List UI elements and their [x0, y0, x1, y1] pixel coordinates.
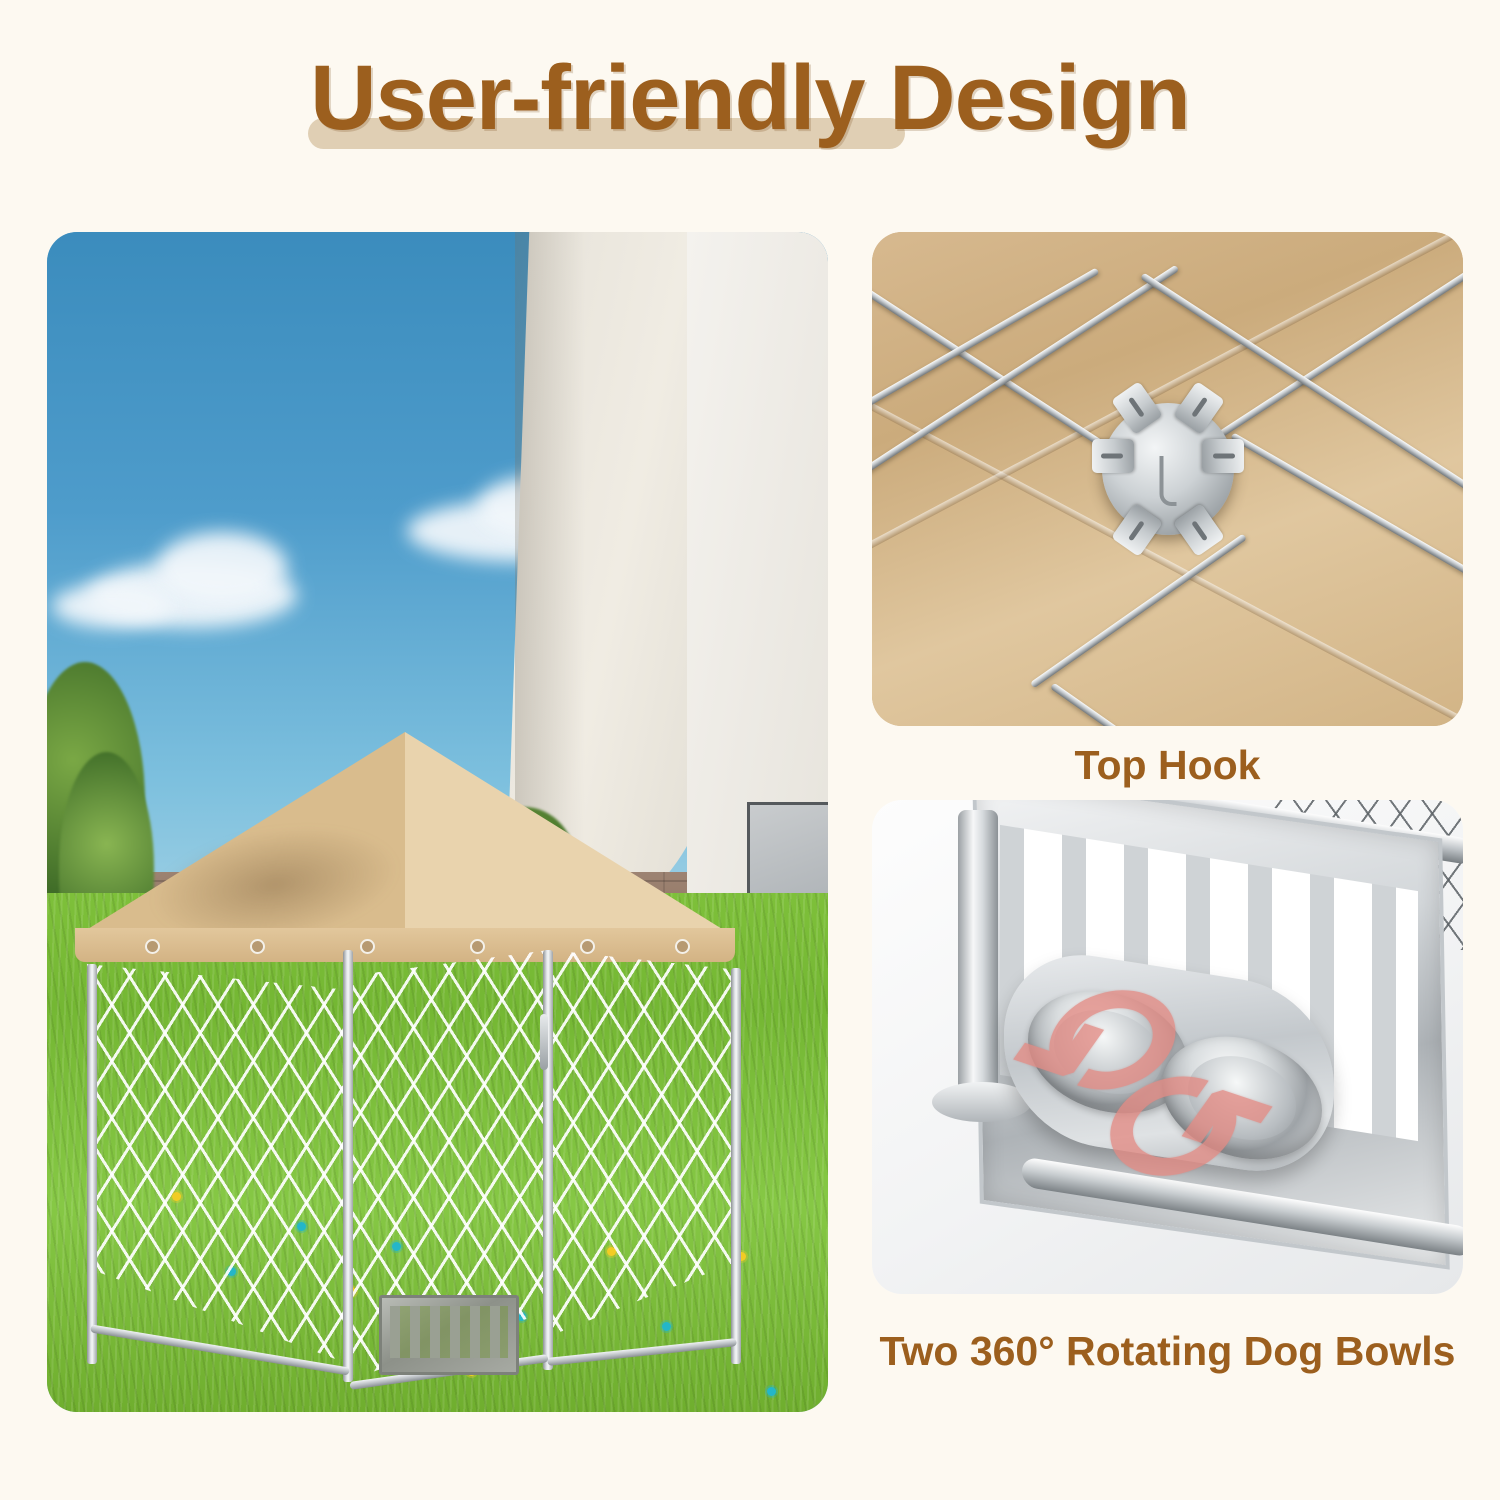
- page-header: User-friendly Design: [0, 0, 1500, 200]
- hub-tab: [1202, 439, 1244, 473]
- corner-post: [731, 968, 741, 1364]
- dog-kennel-cage: [87, 950, 737, 1412]
- corner-post: [343, 950, 353, 1382]
- flower-blue: [767, 1387, 776, 1396]
- cloud: [52, 584, 172, 628]
- canopy-roof: [75, 732, 735, 962]
- dog-bowls-closeup: ⟲ ⟲: [872, 800, 1463, 1294]
- chain-link-panel-right: [549, 950, 739, 1370]
- outdoor-kennel-scene: [47, 232, 828, 1412]
- main-product-photo: [47, 232, 828, 1412]
- title-wrap: User-friendly Design: [0, 52, 1500, 146]
- center-hook-icon: [1159, 456, 1176, 506]
- gate-latch: [540, 1014, 548, 1070]
- chain-link-panel-left: [87, 964, 349, 1364]
- roof-face-right: [405, 732, 735, 937]
- feeding-door-panel: [379, 1295, 519, 1375]
- page-title: User-friendly Design: [310, 52, 1190, 146]
- title-inner: User-friendly Design: [300, 52, 1200, 146]
- corner-post: [87, 964, 97, 1364]
- star-hub-bracket: [1102, 403, 1234, 535]
- vertical-post: [958, 810, 998, 1110]
- cloud: [157, 532, 287, 602]
- bottom-rail: [547, 1338, 737, 1366]
- caption-dog-bowls: Two 360° Rotating Dog Bowls: [860, 1328, 1475, 1375]
- hub-tab: [1092, 439, 1134, 473]
- gate-post: [543, 950, 553, 1370]
- caption-top-hook: Top Hook: [872, 742, 1463, 789]
- top-hook-closeup: [872, 232, 1463, 726]
